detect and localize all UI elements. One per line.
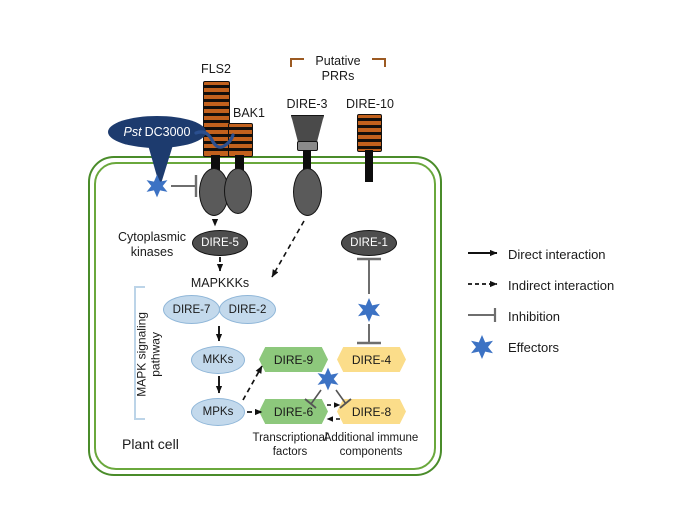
- receptor-label-bak1: BAK1: [233, 106, 265, 120]
- node-dire6: DIRE-6: [259, 399, 328, 424]
- node-dire7: DIRE-7: [163, 295, 220, 324]
- putative-prrs-label-line2: PRRs: [322, 69, 355, 83]
- dire3-cytoplasmic-domain: [293, 168, 322, 216]
- immune-components-line2: components: [340, 446, 403, 459]
- transcriptional-factors-line1: Transcriptional: [253, 432, 328, 445]
- receptor-label-fls2: FLS2: [201, 62, 231, 76]
- legend-label-effectors: Effectors: [508, 340, 559, 355]
- legend-label-indirect-interaction: Indirect interaction: [508, 278, 614, 293]
- bak1-lrr-coil: [228, 123, 253, 157]
- cytoplasmic-kinases-line2: kinases: [131, 245, 173, 259]
- node-dire1: DIRE-1: [341, 230, 397, 256]
- receptor-label-dire10: DIRE-10: [346, 97, 394, 111]
- legend-label-direct-interaction: Direct interaction: [508, 247, 606, 262]
- fls2-lrr-coil: [203, 81, 230, 157]
- node-dire8: DIRE-8: [337, 399, 406, 424]
- node-dire5: DIRE-5: [192, 230, 248, 256]
- node-label-mapkkks: MAPKKKs: [191, 276, 249, 290]
- mapk-pathway-line1: MAPK signaling: [135, 312, 149, 397]
- legend-label-inhibition: Inhibition: [508, 309, 560, 324]
- cytoplasmic-kinases-line1: Cytoplasmic: [118, 230, 186, 244]
- putative-prrs-bracket-left: [290, 58, 304, 67]
- putative-prrs-label-line1: Putative: [315, 54, 360, 68]
- legend-glyph-effector-star: [471, 335, 493, 359]
- node-mkks: MKKs: [191, 346, 245, 374]
- putative-prrs-bracket-right: [372, 58, 386, 67]
- node-dire2: DIRE-2: [219, 295, 276, 324]
- dire10-lrr-coil: [357, 114, 382, 152]
- mapk-pathway-line2: pathway: [149, 332, 163, 377]
- pathogen-strain: DC3000: [145, 125, 191, 139]
- mapk-pathway-label: MAPK signaling pathway: [135, 289, 164, 419]
- bak1-kinase-domain: [224, 168, 252, 214]
- plant-cell-label: Plant cell: [122, 436, 179, 452]
- dire3-ectodomain: [291, 115, 324, 143]
- node-dire9: DIRE-9: [259, 347, 328, 372]
- figure-canvas: FLS2 BAK1 Putative PRRs DIRE-3 DIRE-10 P…: [0, 0, 700, 530]
- pathogen-genus: Pst: [124, 125, 142, 139]
- transcriptional-factors-line2: factors: [273, 446, 308, 459]
- node-mpks: MPKs: [191, 398, 245, 426]
- dire10-transmembrane-stalk: [365, 150, 373, 182]
- immune-components-line1: Additional immune: [324, 432, 419, 445]
- receptor-label-dire3: DIRE-3: [287, 97, 328, 111]
- node-dire4: DIRE-4: [337, 347, 406, 372]
- pathogen-pst-dc3000: PstDC3000: [108, 116, 206, 148]
